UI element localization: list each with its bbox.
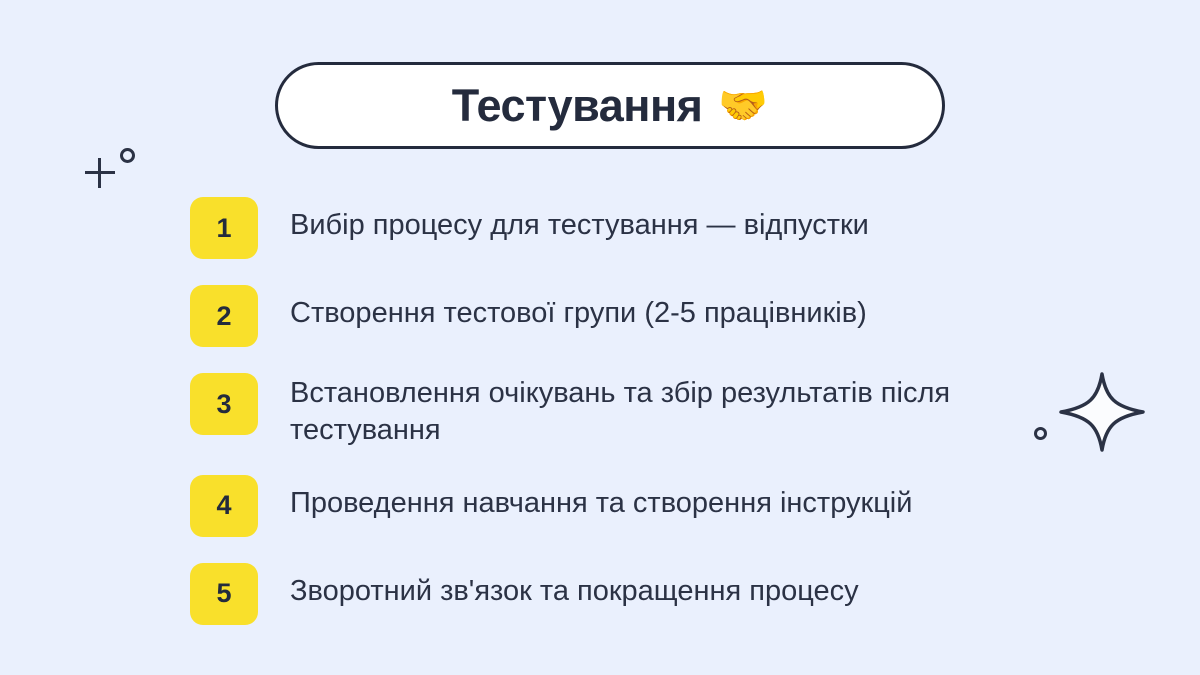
plus-icon xyxy=(85,158,115,188)
handshake-emoji: 🤝 xyxy=(718,86,768,126)
steps-list: 1 Вибір процесу для тестування — відпуст… xyxy=(190,197,1010,625)
step-number: 2 xyxy=(216,303,231,330)
step-number-badge: 4 xyxy=(190,475,258,537)
step-number: 4 xyxy=(216,492,231,519)
step-number: 1 xyxy=(216,215,231,242)
step-number-badge: 2 xyxy=(190,285,258,347)
sparkle-icon xyxy=(1057,371,1147,453)
step-number-badge: 5 xyxy=(190,563,258,625)
title-pill: Тестування 🤝 xyxy=(275,62,945,149)
step-label: Створення тестової групи (2-5 працівникі… xyxy=(290,285,1010,332)
list-item: 4 Проведення навчання та створення інстр… xyxy=(190,475,1010,537)
circle-outline-icon xyxy=(120,148,135,163)
list-item: 1 Вибір процесу для тестування — відпуст… xyxy=(190,197,1010,259)
slide-canvas: Тестування 🤝 1 Вибір процесу для тестува… xyxy=(0,0,1200,675)
step-label: Зворотний зв'язок та покращення процесу xyxy=(290,563,1010,610)
list-item: 5 Зворотний зв'язок та покращення процес… xyxy=(190,563,1010,625)
step-number-badge: 1 xyxy=(190,197,258,259)
step-number: 3 xyxy=(216,391,231,418)
circle-outline-small-icon xyxy=(1034,427,1047,440)
step-number-badge: 3 xyxy=(190,373,258,435)
step-label: Вибір процесу для тестування — відпустки xyxy=(290,197,1010,244)
step-label: Проведення навчання та створення інструк… xyxy=(290,475,1010,522)
list-item: 2 Створення тестової групи (2-5 працівни… xyxy=(190,285,1010,347)
page-title: Тестування xyxy=(452,83,703,128)
step-label: Встановлення очікувань та збір результат… xyxy=(290,373,1010,449)
list-item: 3 Встановлення очікувань та збір результ… xyxy=(190,373,1010,449)
step-number: 5 xyxy=(216,580,231,607)
